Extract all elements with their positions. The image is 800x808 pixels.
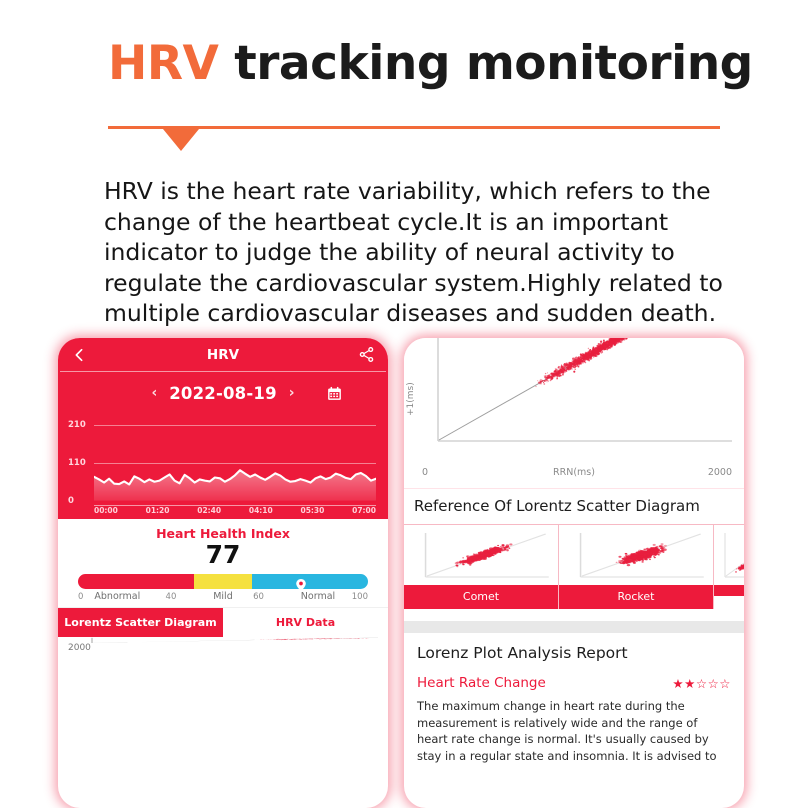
lorentz-scatter-panel: 2000: [58, 637, 388, 643]
x-tick-label: 04:10: [249, 506, 273, 519]
y-tick-label: 210: [68, 420, 86, 430]
health-index-scale: 0 Abnormal 40 Mild 60 Normal 100: [78, 591, 368, 602]
y-tick-label: 0: [68, 496, 74, 506]
scale-mild: Mild: [193, 591, 253, 602]
x-axis-label: RRN(ms): [404, 467, 744, 478]
tab-lorentz-scatter-diagram[interactable]: Lorentz Scatter Diagram: [58, 608, 223, 637]
x-tick-label: 2000: [708, 467, 732, 478]
section-separator: [404, 621, 744, 633]
scale-mid-high: 60: [253, 592, 280, 602]
prev-day-button[interactable]: ‹: [151, 385, 157, 401]
share-button[interactable]: [358, 346, 375, 363]
lorentz-scatter-plot: [58, 637, 388, 643]
star-empty-icon: ☆: [719, 676, 731, 691]
star-filled-icon: ★: [684, 676, 696, 691]
rocket-scatter-thumb: [559, 525, 713, 585]
x-tick-label: 07:00: [352, 506, 376, 519]
report-body-text: The maximum change in heart rate during …: [417, 698, 731, 764]
section-spacer: [404, 609, 744, 621]
reference-card-label: Rocket: [559, 585, 713, 609]
left-phone-red-header: HRV ‹ 2022-08-19 ›: [58, 338, 388, 519]
page-title-rest: tracking monitoring: [218, 36, 752, 91]
heart-health-index-card: Heart Health Index 77 0 Abnormal 40 Mild…: [58, 519, 388, 607]
intro-paragraph: HRV is the heart rate variability, which…: [104, 176, 744, 329]
hrv-sparkline: [94, 420, 376, 501]
x-tick-label: 02:40: [197, 506, 221, 519]
selected-date: 2022-08-19: [169, 384, 277, 403]
lorentz-scatter-detail: +1(ms) 0 RRN(ms) 2000: [404, 338, 744, 488]
y-axis-label: +1(ms): [406, 382, 416, 416]
date-navigation: ‹ 2022-08-19 ›: [58, 372, 388, 414]
star-empty-icon: ☆: [708, 676, 720, 691]
chevron-left-icon: [71, 347, 87, 363]
y-tick-label: 2000: [68, 643, 91, 653]
share-icon: [358, 346, 375, 363]
reference-card-row: Comet Rocket: [404, 524, 744, 609]
tab-bar: Lorentz Scatter Diagram HRV Data: [58, 607, 388, 637]
next-day-button[interactable]: ›: [289, 385, 295, 401]
y-tick-label: 110: [68, 458, 86, 468]
analysis-report-card: Lorenz Plot Analysis Report Heart Rate C…: [404, 633, 744, 764]
hrv-trend-chart: 210 110 0 00:00 01:20 02:40 04: [58, 414, 388, 519]
app-title: HRV: [58, 347, 388, 363]
reference-card-partial[interactable]: [714, 525, 744, 609]
report-section-header: Heart Rate Change ★★☆☆☆: [417, 675, 731, 691]
right-phone-screenshot: +1(ms) 0 RRN(ms) 2000 Reference Of Loren…: [404, 338, 744, 808]
scale-mid-low: 40: [166, 592, 193, 602]
reference-thumbnail: [559, 525, 713, 585]
page-title: HRV tracking monitoring: [108, 36, 753, 91]
health-index-gauge: 0 Abnormal 40 Mild 60 Normal 100: [78, 574, 368, 602]
reference-card-label: [714, 585, 744, 596]
calendar-icon: [326, 385, 343, 402]
reference-card-comet[interactable]: Comet: [404, 525, 559, 609]
reference-thumbnail: [404, 525, 558, 585]
tab-hrv-data[interactable]: HRV Data: [223, 608, 388, 637]
back-button[interactable]: [71, 347, 87, 363]
star-filled-icon: ★: [672, 676, 684, 691]
x-tick-label: 05:30: [301, 506, 325, 519]
health-index-bar: [78, 574, 368, 589]
scale-min: 0: [78, 592, 94, 602]
report-title: Lorenz Plot Analysis Report: [417, 644, 731, 662]
scale-abnormal: Abnormal: [94, 591, 165, 602]
scatter-plot-canvas: [404, 338, 744, 488]
down-triangle-icon: [163, 129, 199, 151]
partial-scatter-thumb: [714, 525, 744, 585]
heart-health-index-title: Heart Health Index: [58, 526, 388, 541]
scale-normal: Normal: [280, 591, 335, 602]
reference-card-rocket[interactable]: Rocket: [559, 525, 714, 609]
heart-health-index-value: 77: [58, 541, 388, 570]
calendar-button[interactable]: [326, 385, 343, 402]
title-underline-accent: [108, 126, 720, 156]
reference-card-label: Comet: [404, 585, 558, 609]
x-tick-label: 00:00: [94, 506, 118, 519]
app-navbar: HRV: [58, 338, 388, 371]
reference-section-title: Reference Of Lorentz Scatter Diagram: [404, 488, 744, 524]
report-section-title: Heart Rate Change: [417, 675, 546, 691]
scale-max: 100: [335, 592, 368, 602]
comet-scatter-thumb: [404, 525, 558, 585]
divider-line: [108, 126, 720, 129]
star-empty-icon: ☆: [696, 676, 708, 691]
x-axis-labels: 00:00 01:20 02:40 04:10 05:30 07:00: [94, 506, 376, 519]
location-pin-icon: [296, 576, 306, 588]
x-tick-label: 01:20: [146, 506, 170, 519]
star-rating: ★★☆☆☆: [672, 676, 731, 691]
left-phone-screenshot: HRV ‹ 2022-08-19 ›: [58, 338, 388, 808]
page-title-highlight: HRV: [108, 36, 218, 91]
reference-thumbnail: [714, 525, 744, 585]
